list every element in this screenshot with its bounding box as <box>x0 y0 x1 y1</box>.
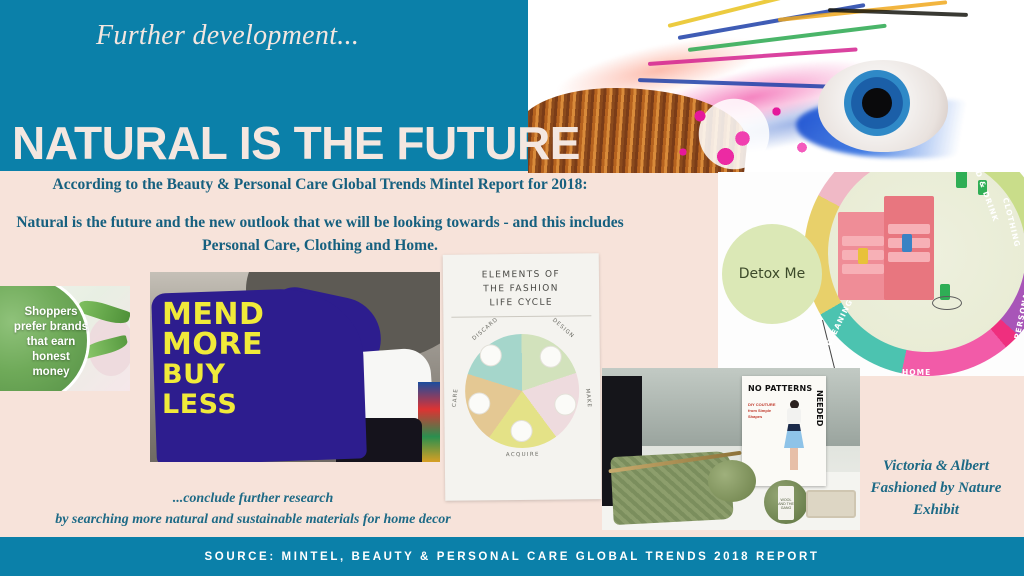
book-title-line1: NO PATTERNS <box>748 384 818 393</box>
mend-line: MEND <box>162 300 347 330</box>
no-patterns-needed-book: NO PATTERNS NEEDED DIY COUTURE from Simp… <box>742 376 826 486</box>
poster-segment-label: MAKE <box>584 388 592 408</box>
shoppers-line: prefer brands <box>14 321 88 333</box>
poster-title-line: ELEMENTS OF <box>482 270 560 281</box>
discard-icon <box>480 344 502 366</box>
conclusion-caption: ...conclude further research by searchin… <box>18 488 488 530</box>
knitting-exhibit-photo: NO PATTERNS NEEDED DIY COUTURE from Simp… <box>602 368 860 530</box>
detox-center-label: Detox Me <box>722 224 822 324</box>
book-subtitle: DIY COUTURE from Simple Shapes <box>748 402 784 420</box>
mend-line: LESS <box>162 390 347 420</box>
shoppers-line: money <box>32 366 69 378</box>
conclusion-line1: ...conclude further research <box>173 491 334 506</box>
poster-title-line: THE FASHION <box>483 284 559 295</box>
slide-canvas: Further development... NATURAL IS THE FU… <box>0 0 1024 576</box>
yarn-ball-icon <box>708 460 756 502</box>
poster-divider <box>451 315 591 317</box>
poster-title: ELEMENTS OF THE FASHION LIFE CYCLE <box>443 267 599 311</box>
poster-title-line: LIFE CYCLE <box>489 298 553 309</box>
shoppers-line: that earn <box>27 336 76 348</box>
book-cover-figure-icon <box>782 400 806 474</box>
lede-text: According to the Beauty & Personal Care … <box>0 176 640 194</box>
mend-slogan-text: MEND MORE BUY LESS <box>162 300 347 420</box>
stairs-illustration-icon <box>838 172 942 300</box>
yarn-label: WOOL AND THE GANG <box>778 486 794 520</box>
source-footer-text: SOURCE: MINTEL, BEAUTY & PERSONAL CARE G… <box>205 551 820 563</box>
kicker-text: Further development... <box>96 20 516 52</box>
mend-line: BUY <box>162 360 347 390</box>
person-figure-icon <box>902 234 912 252</box>
shoppers-overlay-text: Shoppers prefer brands that earn honest … <box>0 305 102 380</box>
conclusion-line2: by searching more natural and sustainabl… <box>55 512 451 527</box>
bicycle-icon <box>932 296 962 310</box>
design-pencil-icon <box>540 346 562 368</box>
page-title: NATURAL IS THE FUTURE <box>12 118 580 168</box>
care-wash-icon <box>468 392 490 414</box>
va-caption-line1: Victoria & Albert <box>883 458 989 474</box>
body-text: Natural is the future and the new outloo… <box>0 211 640 257</box>
mend-more-buy-less-photo: MEND MORE BUY LESS <box>150 272 440 462</box>
poster-segment-label: DISCARD <box>471 317 499 342</box>
va-caption-line3: Exhibit <box>913 502 959 518</box>
person-figure-icon <box>956 172 967 188</box>
person-figure-icon <box>858 248 868 264</box>
mend-line: MORE <box>162 330 347 360</box>
va-exhibit-caption: Victoria & Albert Fashioned by Nature Ex… <box>852 455 1020 521</box>
poster-segment-label: CARE <box>452 388 460 407</box>
colorful-eye-photo <box>528 0 1024 173</box>
detox-me-wheel-panel: FOOD & DRINK CLOTHING PERSONAL CARE HOME… <box>718 172 1024 376</box>
pink-paint-splatter-icon <box>666 89 836 173</box>
detox-segment-label: HOME <box>902 368 931 376</box>
shoppers-line: honest <box>32 351 70 363</box>
tray-icon <box>806 490 856 518</box>
shoppers-line: Shoppers <box>24 306 77 318</box>
fashion-life-cycle-poster: ELEMENTS OF THE FASHION LIFE CYCLE DISCA… <box>443 253 602 501</box>
book-title-line2: NEEDED <box>815 390 824 426</box>
poster-segment-label: DESIGN <box>551 317 575 339</box>
pupil-icon <box>862 88 892 118</box>
source-footer-bar: SOURCE: MINTEL, BEAUTY & PERSONAL CARE G… <box>0 537 1024 576</box>
poster-segment-label: ACQUIRE <box>445 451 601 459</box>
eyeball-icon <box>818 60 948 152</box>
make-sewing-machine-icon <box>554 393 576 415</box>
va-caption-line2: Fashioned by Nature <box>871 480 1002 496</box>
acquire-basket-icon <box>510 420 532 442</box>
